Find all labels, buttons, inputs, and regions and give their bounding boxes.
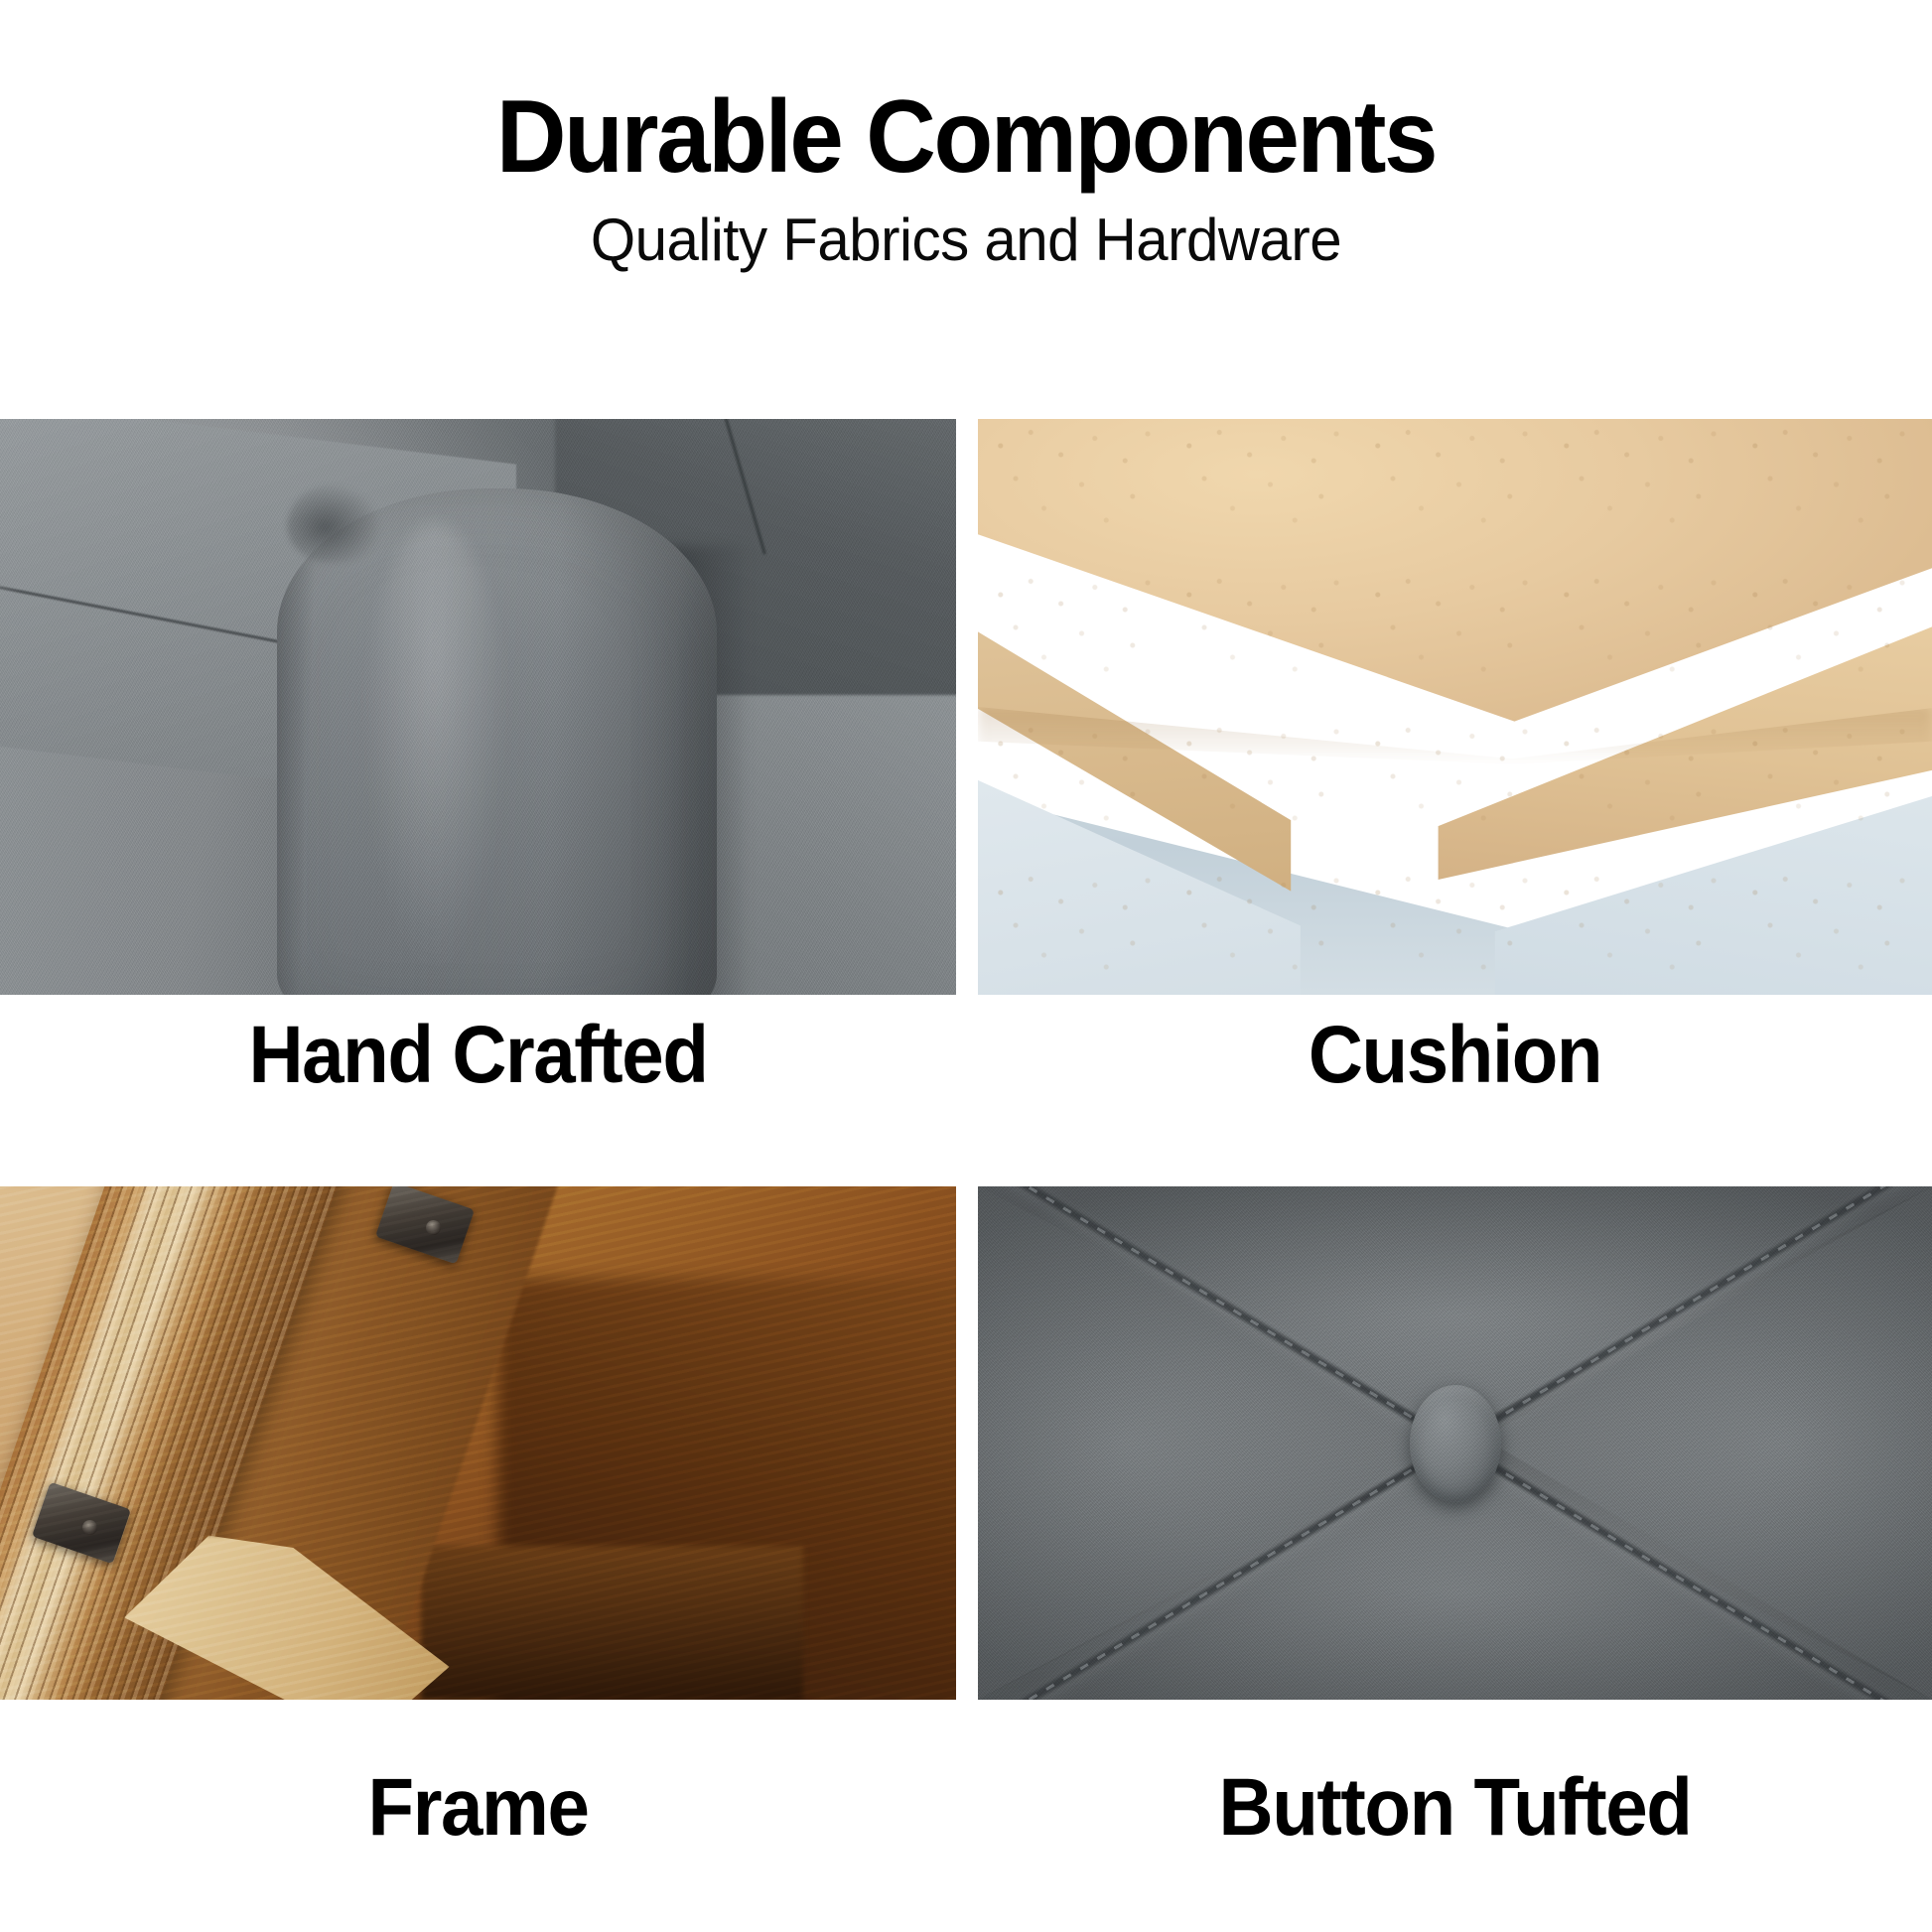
velvet-texture-overlay: [978, 1186, 1932, 1700]
wood-grain-overlay: [0, 1186, 956, 1700]
page-title: Durable Components: [58, 0, 1873, 189]
button-tufted-photo: [978, 1186, 1932, 1700]
foam-cushion-photo: [978, 419, 1932, 995]
caption-button-tufted: Button Tufted: [1012, 1767, 1899, 1849]
sofa-arm-photo: [0, 419, 956, 995]
foam-pore-texture: [978, 419, 1932, 995]
header: Durable Components Quality Fabrics and H…: [0, 0, 1932, 419]
page-subtitle: Quality Fabrics and Hardware: [29, 189, 1903, 270]
panel-cushion[interactable]: [978, 419, 1932, 995]
velvet-texture-overlay: [0, 419, 956, 995]
caption-cushion: Cushion: [1012, 1015, 1899, 1096]
panel-hand-crafted[interactable]: [0, 419, 956, 995]
panel-frame[interactable]: [0, 1186, 956, 1700]
caption-frame: Frame: [34, 1767, 923, 1849]
panel-button-tufted[interactable]: [978, 1186, 1932, 1700]
wood-frame-photo: [0, 1186, 956, 1700]
caption-hand-crafted: Hand Crafted: [34, 1015, 923, 1096]
